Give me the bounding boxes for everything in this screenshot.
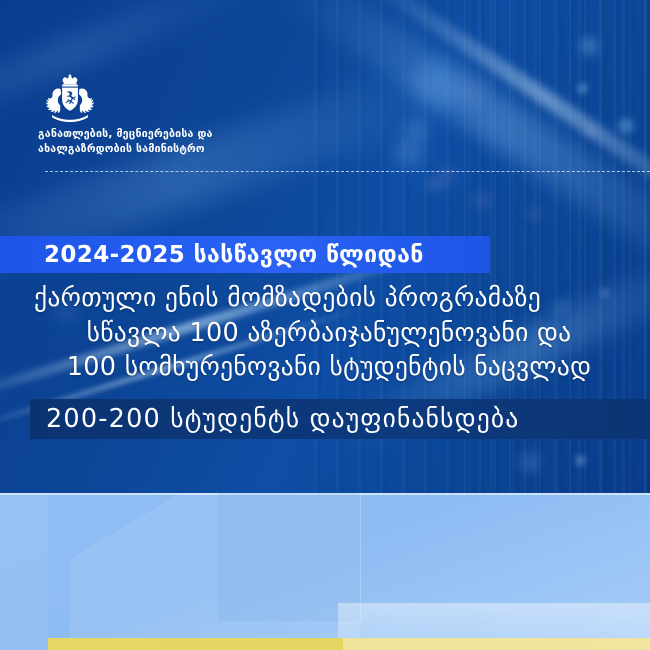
announcement-banner: განათლების, მეცნიერებისა და ახალგაზრდობი… bbox=[0, 0, 650, 650]
geometric-shape-decoration bbox=[218, 493, 361, 621]
headline-line-2: სწავლა 100 აზერბაიჯანულენოვანი და bbox=[34, 316, 632, 351]
kicker-highlight-band: 2024-2025 სასწავლო წლიდან bbox=[0, 236, 490, 273]
final-highlight-band: 200-200 სტუდენტს დაუფინანსდება bbox=[30, 399, 650, 439]
dashed-divider bbox=[45, 171, 650, 172]
headline-line-3: 100 სომხურენოვანი სტუდენტის ნაცვლად bbox=[34, 350, 632, 385]
panel-separator bbox=[0, 493, 650, 495]
headline-line-1: ქართული ენის მომზადების პროგრამაზე bbox=[34, 281, 632, 316]
geometric-shape-decoration bbox=[218, 493, 360, 621]
accent-yellow-bar bbox=[48, 638, 650, 650]
headline-lines: ქართული ენის მომზადების პროგრამაზე სწავლ… bbox=[0, 281, 650, 385]
final-line-text: 200-200 სტუდენტს დაუფინანსდება bbox=[46, 404, 519, 434]
ministry-name-line-1: განათლების, მეცნიერებისა და bbox=[38, 127, 338, 142]
ministry-name: განათლების, მეცნიერებისა და ახალგაზრდობი… bbox=[38, 127, 338, 156]
kicker-text: 2024-2025 სასწავლო წლიდან bbox=[44, 242, 424, 268]
geometric-shape-decoration bbox=[70, 493, 360, 650]
geometric-shape-decoration bbox=[0, 493, 48, 650]
georgian-coat-of-arms-icon bbox=[38, 72, 102, 124]
headline-block: 2024-2025 სასწავლო წლიდან ქართული ენის მ… bbox=[0, 236, 650, 385]
ministry-name-line-2: ახალგაზრდობის სამინისტრო bbox=[38, 142, 338, 157]
bottom-light-panel bbox=[0, 493, 650, 650]
